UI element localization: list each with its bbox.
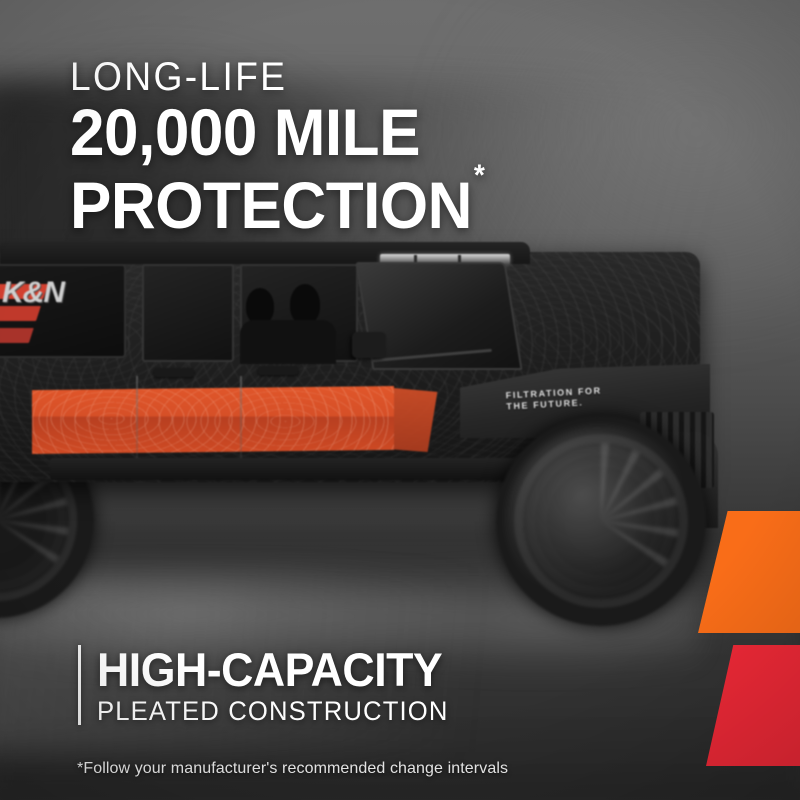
headline-line-2: PROTECTION* [70, 164, 653, 237]
feature-block: HIGH-CAPACITY PLEATED CONSTRUCTION [78, 645, 467, 726]
feature-subtitle: PLEATED CONSTRUCTION [97, 696, 449, 726]
headline-asterisk: * [474, 159, 485, 192]
driver-silhouette [290, 284, 320, 324]
front-door-handle [258, 366, 298, 375]
orange-body-panel [32, 386, 394, 454]
feature-title: HIGH-CAPACITY [97, 645, 449, 695]
footnote-disclaimer: *Follow your manufacturer's recommended … [77, 760, 508, 778]
rocker-panel [50, 458, 520, 480]
rear-door-window [142, 264, 234, 362]
headline-line-2-text: PROTECTION [70, 168, 472, 242]
rear-window: K&N [0, 264, 126, 358]
advertisement-banner: K&N FILTRATION FOR THE FUTURE. [0, 0, 800, 800]
side-mirror [352, 332, 386, 358]
headline-block: LONG-LIFE 20,000 MILE PROTECTION* [70, 57, 690, 237]
accent-bar [78, 645, 81, 725]
vehicle-jeep: K&N FILTRATION FOR THE FUTURE. [0, 236, 770, 656]
occupants-torso [240, 320, 336, 364]
passenger-silhouette [246, 288, 274, 324]
headline-kicker: LONG-LIFE [70, 57, 647, 97]
rear-door-handle [154, 368, 194, 377]
kn-logo: K&N [2, 280, 64, 306]
headline-line-1: 20,000 MILE [70, 101, 653, 164]
front-wheel-highlight [506, 426, 696, 616]
